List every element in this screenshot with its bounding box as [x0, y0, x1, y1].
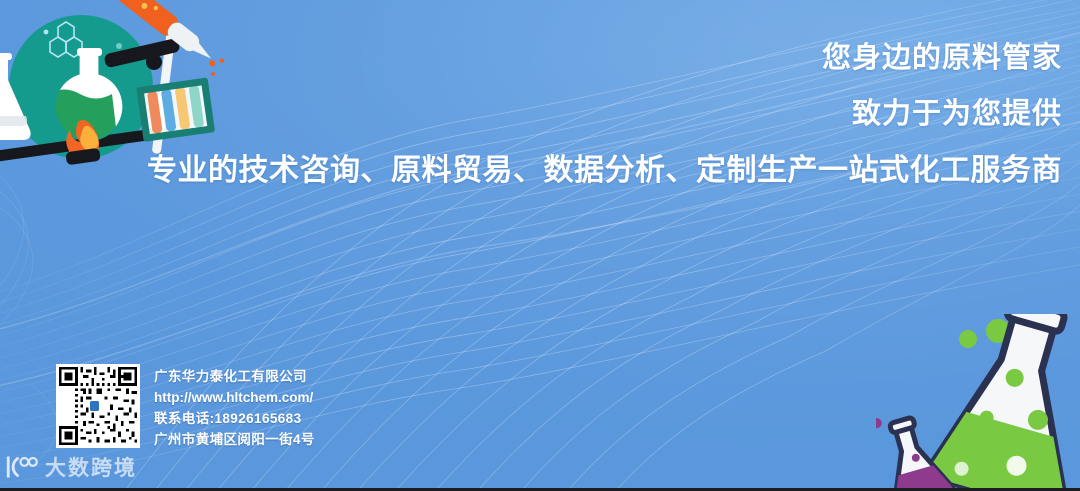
slogan-line-1: 您身边的原料管家: [22, 44, 1062, 73]
qr-center-logo: [90, 401, 99, 411]
slogan-block: 您身边的原料管家 致力于为您提供 专业的技术咨询、原料贸易、数据分析、定制生产一…: [22, 44, 1062, 186]
company-address: 广州市黄埔区阅阳一街4号: [154, 429, 315, 450]
company-name: 广东华力泰化工有限公司: [154, 366, 315, 387]
company-phone: 联系电话:18926165683: [154, 408, 315, 429]
watermark-text: 大数跨境: [45, 452, 137, 482]
slogan-line-3: 专业的技术咨询、原料贸易、数据分析、定制生产一站式化工服务商: [22, 156, 1062, 186]
slogan-line-2: 致力于为您提供: [22, 100, 1062, 129]
contact-details: 广东华力泰化工有限公司 http://www.hltchem.com/ 联系电话…: [154, 364, 315, 450]
watermark: 大数跨境: [4, 452, 137, 482]
qr-code-image: [59, 367, 137, 445]
footer-contact-block: 广东华力泰化工有限公司 http://www.hltchem.com/ 联系电话…: [56, 364, 315, 450]
qr-code[interactable]: [56, 364, 140, 448]
company-website[interactable]: http://www.hltchem.com/: [154, 387, 315, 408]
flask-illustration: [876, 314, 1080, 491]
watermark-logo-icon: [4, 454, 38, 480]
chemical-company-banner: 您身边的原料管家 致力于为您提供 专业的技术咨询、原料贸易、数据分析、定制生产一…: [0, 0, 1080, 491]
